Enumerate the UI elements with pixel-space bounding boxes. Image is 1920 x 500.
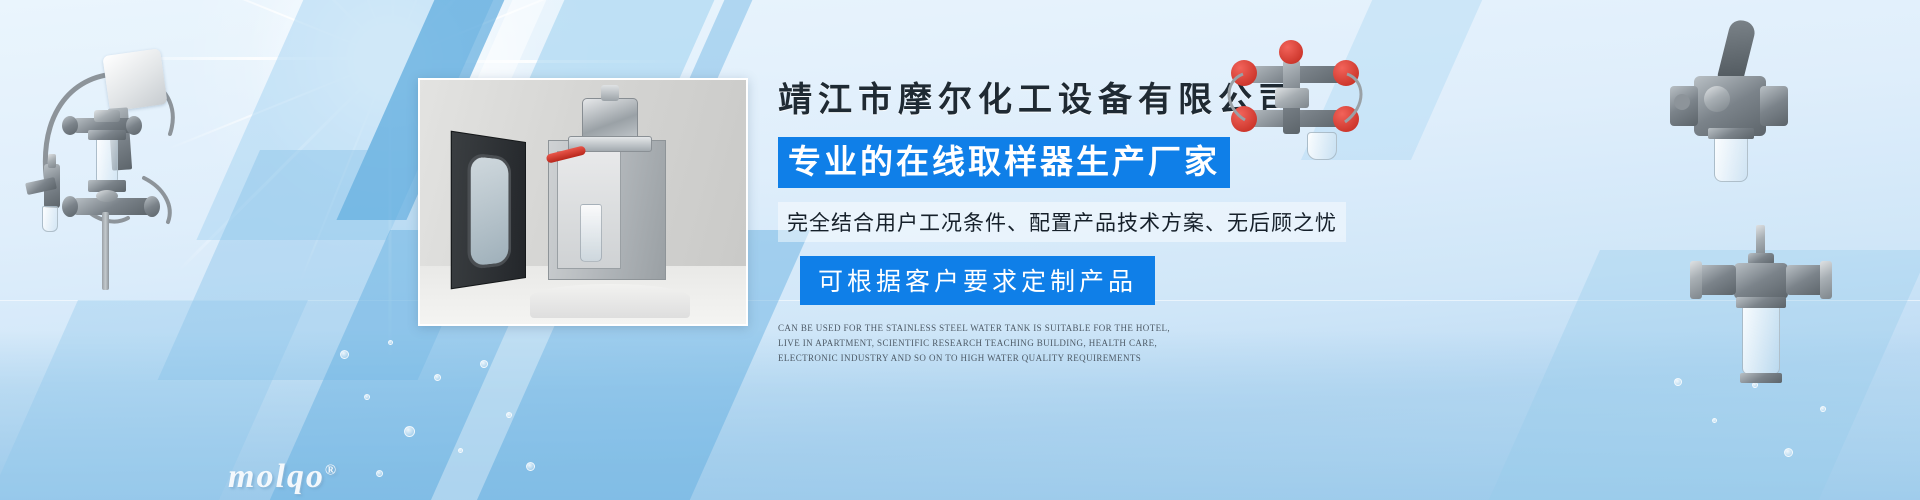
- description-line: 完全结合用户工况条件、配置产品技术方案、无后顾之忧: [778, 202, 1346, 242]
- sample-bottle: [580, 204, 602, 262]
- lever-handle: [1717, 18, 1757, 84]
- valve-sight-glass: [1714, 134, 1748, 182]
- transmitter-housing: [102, 48, 167, 112]
- watermark-registered-mark: ®: [325, 463, 338, 479]
- watermark-text: molqo: [228, 458, 325, 495]
- cabinet-base: [530, 284, 690, 318]
- lower-sight-glass: [1742, 303, 1780, 375]
- main-slogan: 专业的在线取样器生产厂家: [778, 137, 1230, 188]
- sight-glass-column: [96, 136, 118, 182]
- english-description: CAN BE USED FOR THE STAINLESS STEEL WATE…: [778, 321, 1178, 366]
- lever-handle-valve: [1660, 20, 1800, 200]
- probe-stem: [102, 212, 109, 290]
- left-equipment-illustration: [18, 30, 218, 300]
- watermark-logo: molqo®: [228, 458, 338, 496]
- cross-valve-manifold: [1215, 36, 1375, 166]
- cabinet-door: [451, 131, 526, 290]
- sampler-cabinet: [548, 140, 666, 280]
- product-photo: [418, 78, 748, 326]
- flanged-sight-glass-valve: [1690, 225, 1840, 405]
- promotional-banner: 靖江市摩尔化工设备有限公司 专业的在线取样器生产厂家 完全结合用户工况条件、配置…: [0, 0, 1920, 500]
- sub-slogan: 可根据客户要求定制产品: [800, 256, 1155, 305]
